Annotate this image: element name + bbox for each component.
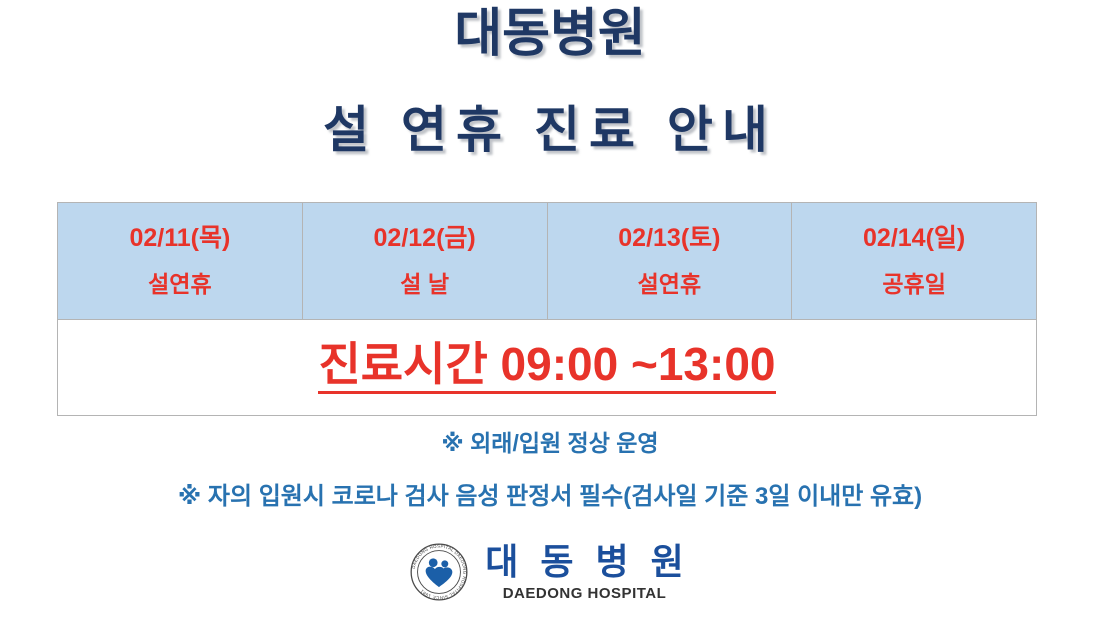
hospital-emblem-icon: DAEDONG HOSPITAL DAEDONG HOSPITAL SINCE … [410, 543, 468, 601]
day-label-2: 설연휴 [548, 273, 792, 296]
notice-subtitle: 설 연휴 진료 안내 [0, 60, 1100, 155]
day-date-2: 02/13(토) [548, 226, 792, 273]
hospital-logo: DAEDONG HOSPITAL DAEDONG HOSPITAL SINCE … [0, 543, 1100, 601]
hospital-name-title: 대동병원 [0, 0, 1100, 60]
day-cell-2: 02/13(토) 설연휴 [547, 203, 792, 320]
logo-name-en: DAEDONG HOSPITAL [503, 580, 667, 601]
day-label-3: 공휴일 [792, 273, 1036, 296]
day-date-1: 02/12(금) [303, 226, 547, 273]
hours-cell: 진료시간 09:00 ~13:00 [58, 320, 1037, 416]
day-cell-3: 02/14(일) 공휴일 [792, 203, 1037, 320]
day-cell-0: 02/11(목) 설연휴 [58, 203, 303, 320]
day-date-0: 02/11(목) [58, 226, 302, 273]
day-date-3: 02/14(일) [792, 226, 1036, 273]
logo-name-ko: 대 동 병 원 [479, 544, 690, 580]
table-row-days: 02/11(목) 설연휴 02/12(금) 설 날 02/13(토) 설연휴 0… [58, 203, 1037, 320]
day-label-0: 설연휴 [58, 273, 302, 296]
title-block: 대동병원 설 연휴 진료 안내 [0, 0, 1100, 155]
holiday-schedule-table: 02/11(목) 설연휴 02/12(금) 설 날 02/13(토) 설연휴 0… [57, 202, 1037, 416]
notes-block: ※ 외래/입원 정상 운영 ※ 자의 입원시 코로나 검사 음성 판정서 필수(… [0, 432, 1100, 509]
day-cell-1: 02/12(금) 설 날 [302, 203, 547, 320]
notice-poster: 대동병원 설 연휴 진료 안내 02/11(목) 설연휴 02/12(금) 설 … [0, 0, 1100, 619]
consultation-hours-text: 진료시간 09:00 ~13:00 [318, 341, 775, 394]
note-covid-test: ※ 자의 입원시 코로나 검사 음성 판정서 필수(검사일 기준 3일 이내만 … [0, 455, 1100, 509]
table-row-hours: 진료시간 09:00 ~13:00 [58, 320, 1037, 416]
day-label-1: 설 날 [303, 273, 547, 296]
note-outpatient: ※ 외래/입원 정상 운영 [0, 432, 1100, 455]
logo-text-block: 대 동 병 원 DAEDONG HOSPITAL [479, 544, 690, 601]
